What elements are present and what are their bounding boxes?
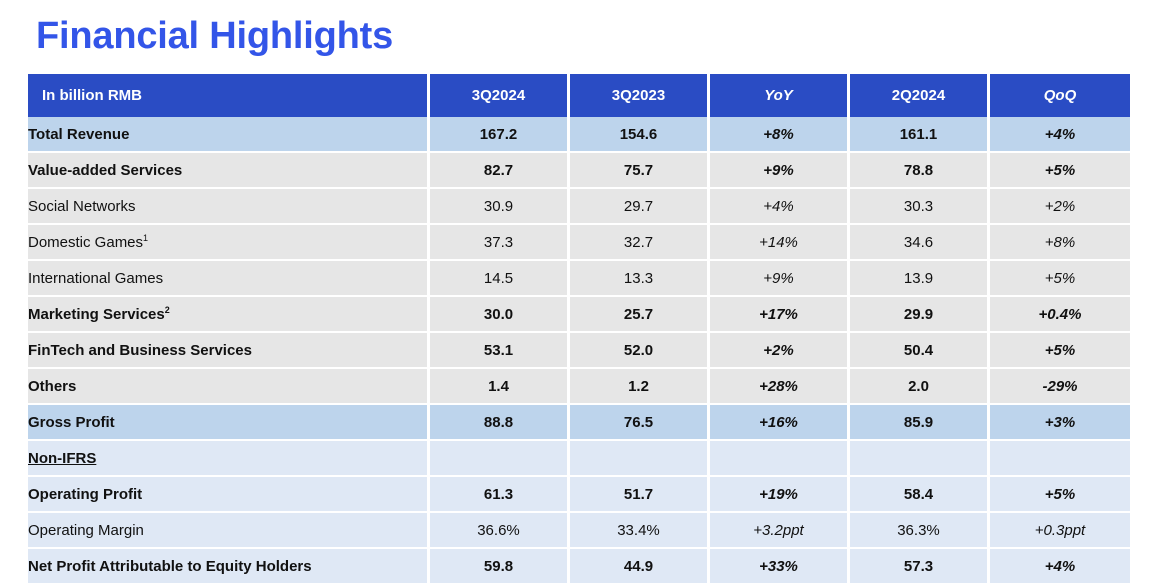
cell-yoy: +28% [710, 369, 850, 405]
row-label: Total Revenue [28, 117, 430, 153]
cell-3q2024: 53.1 [430, 333, 570, 369]
table-row: FinTech and Business Services53.152.0+2%… [28, 333, 1130, 369]
cell-2q2024: 29.9 [850, 297, 990, 333]
row-label-text: Net Profit Attributable to Equity Holder… [28, 558, 312, 575]
row-label-text: Operating Profit [28, 486, 142, 503]
cell-3q2023: 29.7 [570, 189, 710, 225]
footnote-marker: 1 [143, 233, 148, 243]
cell-yoy: +14% [710, 225, 850, 261]
cell-2q2024: 36.3% [850, 513, 990, 549]
cell-2q2024: 2.0 [850, 369, 990, 405]
cell-2q2024: 13.9 [850, 261, 990, 297]
row-label: Domestic Games1 [28, 225, 430, 261]
cell-yoy: +19% [710, 477, 850, 513]
table-row: Domestic Games137.332.7+14%34.6+8% [28, 225, 1130, 261]
header-label-cell: In billion RMB [28, 74, 430, 117]
cell-qoq: +3% [990, 405, 1130, 441]
cell-3q2023: 33.4% [570, 513, 710, 549]
row-label-text: Marketing Services2 [28, 306, 170, 323]
cell-3q2023: 25.7 [570, 297, 710, 333]
table-header: In billion RMB 3Q2024 3Q2023 YoY 2Q2024 … [28, 74, 1130, 117]
cell-qoq: +5% [990, 153, 1130, 189]
cell-qoq: +0.4% [990, 297, 1130, 333]
table-row: Value-added Services82.775.7+9%78.8+5% [28, 153, 1130, 189]
header-row: In billion RMB 3Q2024 3Q2023 YoY 2Q2024 … [28, 74, 1130, 117]
cell-3q2023: 44.9 [570, 549, 710, 585]
table-row: Social Networks30.929.7+4%30.3+2% [28, 189, 1130, 225]
table-row: Marketing Services230.025.7+17%29.9+0.4% [28, 297, 1130, 333]
cell-3q2024: 88.8 [430, 405, 570, 441]
cell-qoq: +4% [990, 549, 1130, 585]
cell-yoy: +33% [710, 549, 850, 585]
cell-3q2024: 14.5 [430, 261, 570, 297]
table-row: Gross Profit88.876.5+16%85.9+3% [28, 405, 1130, 441]
cell-3q2023: 1.2 [570, 369, 710, 405]
cell-yoy: +17% [710, 297, 850, 333]
header-col-qoq: QoQ [990, 74, 1130, 117]
row-label: Net Profit Attributable to Equity Holder… [28, 549, 430, 585]
cell-3q2024: 59.8 [430, 549, 570, 585]
table-row: Non-IFRS [28, 441, 1130, 477]
cell-3q2023: 76.5 [570, 405, 710, 441]
header-col-3q2024: 3Q2024 [430, 74, 570, 117]
row-label-text: Gross Profit [28, 414, 115, 431]
cell-3q2024: 167.2 [430, 117, 570, 153]
row-label-text: Total Revenue [28, 126, 129, 143]
cell-qoq: +0.3ppt [990, 513, 1130, 549]
header-col-3q2023: 3Q2023 [570, 74, 710, 117]
row-label: Marketing Services2 [28, 297, 430, 333]
footnote-marker: 2 [165, 305, 170, 315]
cell-yoy: +16% [710, 405, 850, 441]
table-row: Operating Margin36.6%33.4%+3.2ppt36.3%+0… [28, 513, 1130, 549]
row-label: Others [28, 369, 430, 405]
row-label: FinTech and Business Services [28, 333, 430, 369]
row-label: Gross Profit [28, 405, 430, 441]
row-label: Operating Profit [28, 477, 430, 513]
cell-3q2023: 13.3 [570, 261, 710, 297]
cell-2q2024: 50.4 [850, 333, 990, 369]
row-label-text: Social Networks [28, 198, 136, 215]
cell-qoq: +4% [990, 117, 1130, 153]
cell-qoq: +8% [990, 225, 1130, 261]
cell-3q2023: 52.0 [570, 333, 710, 369]
cell-2q2024: 34.6 [850, 225, 990, 261]
page-title: Financial Highlights [36, 12, 393, 60]
cell-3q2023 [570, 441, 710, 477]
cell-yoy: +3.2ppt [710, 513, 850, 549]
cell-3q2024 [430, 441, 570, 477]
table-row: Operating Profit61.351.7+19%58.4+5% [28, 477, 1130, 513]
row-label-text: FinTech and Business Services [28, 342, 252, 359]
cell-qoq: +5% [990, 261, 1130, 297]
cell-3q2024: 36.6% [430, 513, 570, 549]
row-label-text: Value-added Services [28, 162, 182, 179]
cell-2q2024 [850, 441, 990, 477]
cell-3q2024: 61.3 [430, 477, 570, 513]
cell-yoy: +9% [710, 261, 850, 297]
row-label: Value-added Services [28, 153, 430, 189]
cell-qoq [990, 441, 1130, 477]
cell-3q2024: 30.9 [430, 189, 570, 225]
table-body: Total Revenue167.2154.6+8%161.1+4%Value-… [28, 117, 1130, 585]
cell-yoy: +2% [710, 333, 850, 369]
cell-3q2023: 51.7 [570, 477, 710, 513]
cell-2q2024: 30.3 [850, 189, 990, 225]
row-label: Social Networks [28, 189, 430, 225]
table-row: Total Revenue167.2154.6+8%161.1+4% [28, 117, 1130, 153]
cell-yoy [710, 441, 850, 477]
row-label-text: Domestic Games1 [28, 234, 148, 251]
table-row: International Games14.513.3+9%13.9+5% [28, 261, 1130, 297]
cell-3q2023: 32.7 [570, 225, 710, 261]
cell-yoy: +9% [710, 153, 850, 189]
cell-2q2024: 57.3 [850, 549, 990, 585]
row-label-text: Operating Margin [28, 522, 144, 539]
cell-3q2024: 30.0 [430, 297, 570, 333]
cell-2q2024: 78.8 [850, 153, 990, 189]
row-label-text: Others [28, 378, 76, 395]
row-label: Non-IFRS [28, 441, 430, 477]
cell-qoq: -29% [990, 369, 1130, 405]
slide-page: Financial Highlights In billion RMB 3Q20… [0, 0, 1164, 582]
table-row: Others1.41.2+28%2.0-29% [28, 369, 1130, 405]
row-label: Operating Margin [28, 513, 430, 549]
cell-3q2024: 37.3 [430, 225, 570, 261]
cell-2q2024: 58.4 [850, 477, 990, 513]
cell-qoq: +5% [990, 333, 1130, 369]
row-label-text: International Games [28, 270, 163, 287]
row-label-text: Non-IFRS [28, 450, 96, 467]
cell-3q2024: 1.4 [430, 369, 570, 405]
cell-qoq: +2% [990, 189, 1130, 225]
cell-2q2024: 85.9 [850, 405, 990, 441]
cell-3q2024: 82.7 [430, 153, 570, 189]
cell-yoy: +4% [710, 189, 850, 225]
cell-3q2023: 75.7 [570, 153, 710, 189]
header-col-2q2024: 2Q2024 [850, 74, 990, 117]
header-col-yoy: YoY [710, 74, 850, 117]
financial-highlights-table: In billion RMB 3Q2024 3Q2023 YoY 2Q2024 … [28, 74, 1130, 585]
row-label: International Games [28, 261, 430, 297]
cell-2q2024: 161.1 [850, 117, 990, 153]
cell-yoy: +8% [710, 117, 850, 153]
table-row: Net Profit Attributable to Equity Holder… [28, 549, 1130, 585]
cell-3q2023: 154.6 [570, 117, 710, 153]
cell-qoq: +5% [990, 477, 1130, 513]
